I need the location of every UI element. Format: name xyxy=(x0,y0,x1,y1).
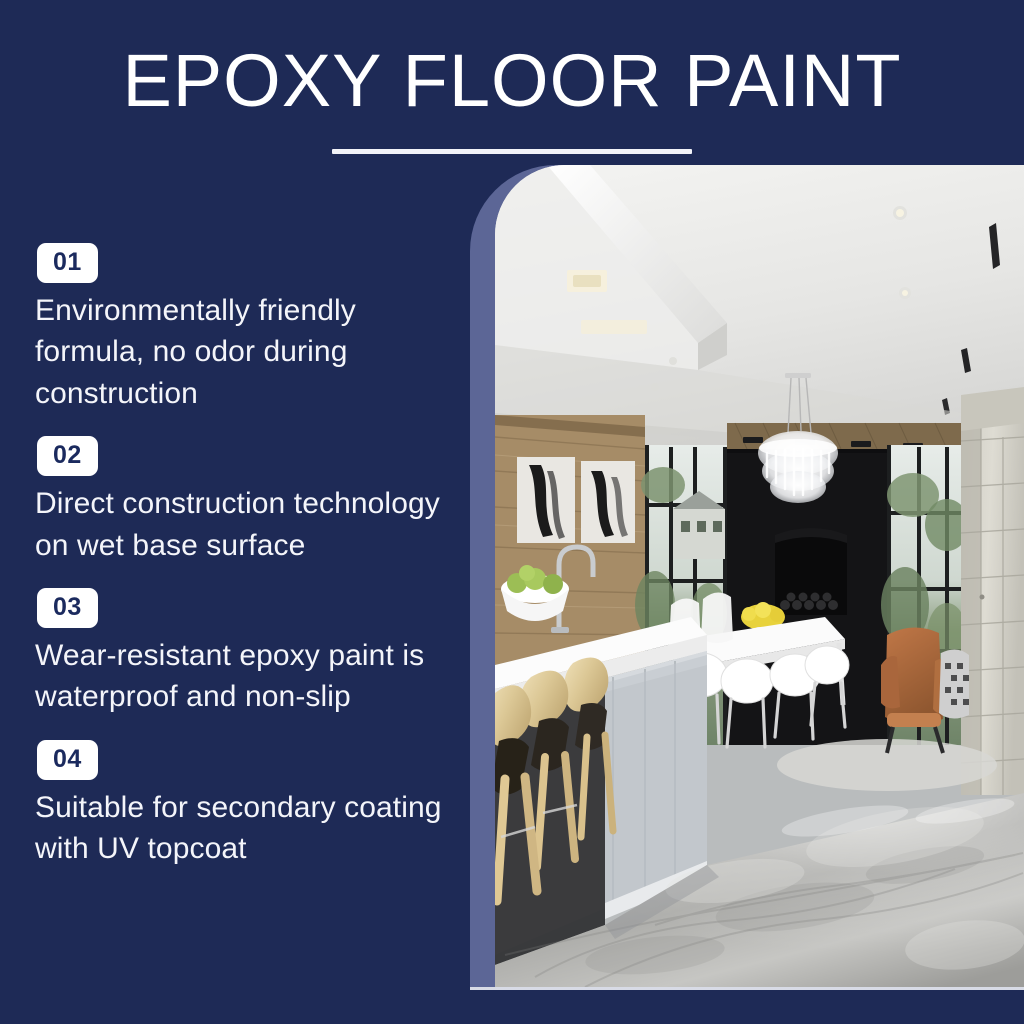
feature-item-01: 01 Environmentally friendly formula, no … xyxy=(35,243,455,414)
interior-photo xyxy=(495,165,1024,987)
feature-text-01: Environmentally friendly formula, no odo… xyxy=(35,290,455,414)
armchair-patterned xyxy=(939,649,969,718)
feature-list: 01 Environmentally friendly formula, no … xyxy=(35,243,455,870)
page-title: EPOXY FLOOR PAINT xyxy=(0,44,1024,118)
feature-item-04: 04 Suitable for secondary coating with U… xyxy=(35,740,455,870)
title-divider xyxy=(332,149,692,154)
interior-photo-illustration xyxy=(495,165,1024,987)
poster-canvas: EPOXY FLOOR PAINT xyxy=(0,0,1024,1024)
feature-number-badge-01: 01 xyxy=(37,243,98,283)
feature-text-02: Direct construction technology on wet ba… xyxy=(35,483,455,566)
feature-item-03: 03 Wear-resistant epoxy paint is waterpr… xyxy=(35,588,455,718)
feature-text-03: Wear-resistant epoxy paint is waterproof… xyxy=(35,635,455,718)
feature-number-badge-02: 02 xyxy=(37,436,98,476)
feature-item-02: 02 Direct construction technology on wet… xyxy=(35,436,455,566)
feature-text-04: Suitable for secondary coating with UV t… xyxy=(35,787,455,870)
feature-number-badge-04: 04 xyxy=(37,740,98,780)
feature-number-badge-03: 03 xyxy=(37,588,98,628)
title-block: EPOXY FLOOR PAINT xyxy=(0,44,1024,154)
